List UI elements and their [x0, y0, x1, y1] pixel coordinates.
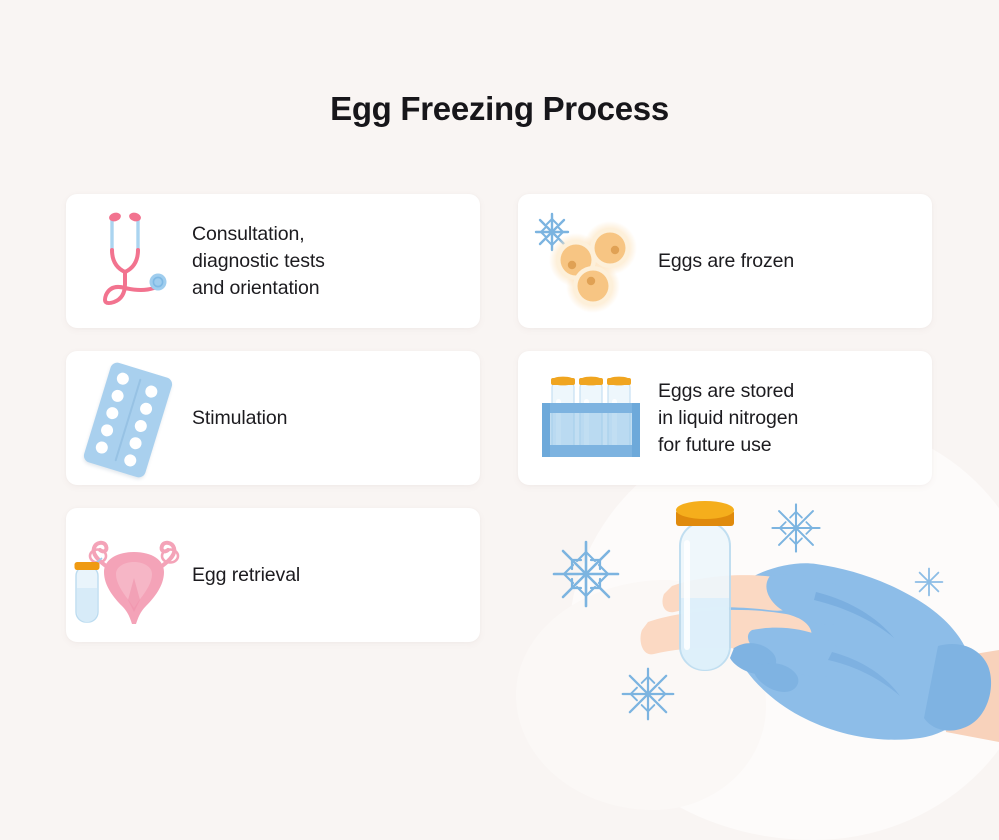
page-title: Egg Freezing Process: [0, 90, 999, 128]
step-label: Eggs are stored in liquid nitrogen for f…: [658, 378, 798, 459]
step-card-eggs-stored[interactable]: Eggs are stored in liquid nitrogen for f…: [518, 351, 932, 485]
step-label: Consultation, diagnostic tests and orien…: [192, 221, 325, 302]
step-card-stimulation[interactable]: Stimulation: [66, 351, 480, 485]
step-label: Eggs are frozen: [658, 248, 794, 275]
step-card-eggs-frozen[interactable]: Eggs are frozen: [518, 194, 932, 328]
pill-blister-pack-icon: [66, 351, 192, 485]
test-tube-rack-icon: [518, 351, 658, 485]
stethoscope-icon: [66, 194, 192, 328]
step-card-egg-retrieval[interactable]: Egg retrieval: [66, 508, 480, 642]
uterus-test-tube-icon: [66, 508, 192, 642]
snowflake-icon: [548, 536, 624, 617]
frozen-eggs-icon: [518, 194, 658, 328]
step-label: Egg retrieval: [192, 562, 300, 589]
step-label: Stimulation: [192, 405, 287, 432]
gloved-hand-illustration: [620, 480, 999, 750]
step-card-consultation[interactable]: Consultation, diagnostic tests and orien…: [66, 194, 480, 328]
infographic-canvas: Egg Freezing Process Consultation, diagn…: [0, 0, 999, 750]
